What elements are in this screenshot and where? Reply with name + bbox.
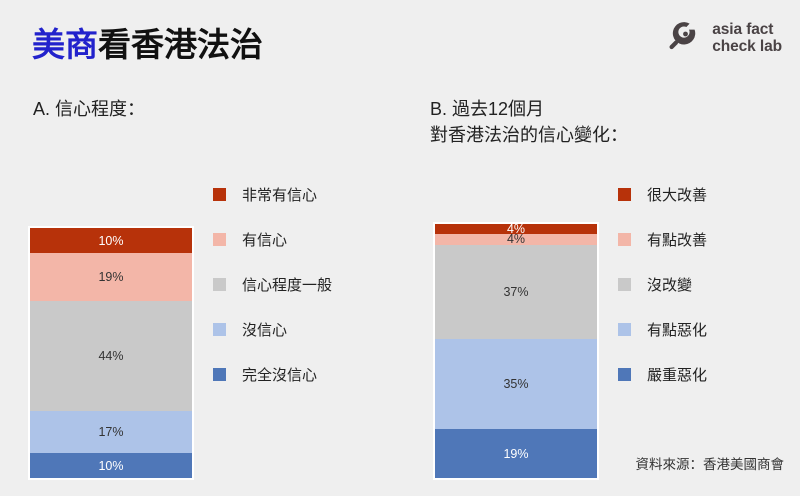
brand-logo-line1: asia fact: [712, 21, 773, 38]
bar-segment-信心程度一般: 44%: [30, 301, 192, 411]
bar-segment-完全沒信心: 10%: [30, 453, 192, 478]
legend-item-有信心[interactable]: 有信心: [213, 217, 332, 262]
bar-segment-value: 37%: [503, 285, 528, 299]
bar-segment-有點惡化: 35%: [435, 339, 597, 429]
legend-swatch-icon: [618, 323, 631, 336]
legend-item-label: 信心程度一般: [242, 274, 332, 295]
legend-swatch-icon: [213, 278, 226, 291]
page-title: 美商看香港法治: [32, 24, 263, 66]
bar-segment-有點改善: 4%: [435, 234, 597, 244]
bar-segment-value: 4%: [507, 234, 525, 244]
legend-item-label: 有點惡化: [647, 319, 707, 340]
legend-swatch-icon: [618, 278, 631, 291]
chart-a-stacked-bar: 10%19%44%17%10%: [28, 226, 194, 480]
legend-item-有點惡化[interactable]: 有點惡化: [618, 307, 707, 352]
legend-item-沒信心[interactable]: 沒信心: [213, 307, 332, 352]
bar-segment-value: 10%: [98, 234, 123, 248]
source-note: 資料來源：香港美國商會: [636, 453, 785, 473]
bar-segment-沒改變: 37%: [435, 245, 597, 340]
chart-b-legend: 很大改善有點改善沒改變有點惡化嚴重惡化: [618, 172, 707, 397]
legend-item-有點改善[interactable]: 有點改善: [618, 217, 707, 262]
legend-item-嚴重惡化[interactable]: 嚴重惡化: [618, 352, 707, 397]
legend-item-完全沒信心[interactable]: 完全沒信心: [213, 352, 332, 397]
page-title-rest: 看香港法治: [98, 26, 263, 63]
section-b-heading: B. 過去12個月 對香港法治的信心變化：: [430, 96, 628, 148]
chart-a-legend: 非常有信心有信心信心程度一般沒信心完全沒信心: [213, 172, 332, 397]
legend-item-label: 沒改變: [647, 274, 692, 295]
legend-swatch-icon: [213, 188, 226, 201]
legend-item-label: 嚴重惡化: [647, 364, 707, 385]
legend-swatch-icon: [618, 368, 631, 381]
bar-segment-沒信心: 17%: [30, 411, 192, 454]
bar-segment-value: 19%: [503, 447, 528, 461]
legend-item-label: 沒信心: [242, 319, 287, 340]
legend-swatch-icon: [213, 368, 226, 381]
brand-logo[interactable]: asia fact check lab: [669, 18, 782, 57]
legend-item-很大改善[interactable]: 很大改善: [618, 172, 707, 217]
bar-segment-value: 35%: [503, 377, 528, 391]
chart-b-stacked-bar: 4%4%37%35%19%: [433, 222, 599, 480]
page-title-accent: 美商: [32, 26, 98, 63]
legend-swatch-icon: [618, 233, 631, 246]
legend-item-非常有信心[interactable]: 非常有信心: [213, 172, 332, 217]
legend-item-label: 有信心: [242, 229, 287, 250]
legend-item-label: 完全沒信心: [242, 364, 317, 385]
legend-item-label: 非常有信心: [242, 184, 317, 205]
magnifier-logo-icon: [669, 18, 703, 57]
section-a-heading: A. 信心程度：: [33, 96, 145, 122]
bar-segment-非常有信心: 10%: [30, 228, 192, 253]
legend-item-label: 很大改善: [647, 184, 707, 205]
brand-logo-line2: check lab: [712, 38, 782, 55]
bar-segment-嚴重惡化: 19%: [435, 429, 597, 478]
bar-segment-value: 4%: [507, 224, 525, 234]
bar-segment-有信心: 19%: [30, 253, 192, 301]
legend-item-label: 有點改善: [647, 229, 707, 250]
bar-segment-value: 17%: [98, 425, 123, 439]
legend-swatch-icon: [618, 188, 631, 201]
legend-swatch-icon: [213, 233, 226, 246]
page-header: 美商看香港法治 asia fact check lab: [0, 0, 800, 80]
legend-swatch-icon: [213, 323, 226, 336]
bar-segment-value: 19%: [98, 270, 123, 284]
bar-segment-value: 44%: [98, 349, 123, 363]
legend-item-信心程度一般[interactable]: 信心程度一般: [213, 262, 332, 307]
brand-logo-text: asia fact check lab: [712, 21, 782, 55]
bar-segment-很大改善: 4%: [435, 224, 597, 234]
bar-segment-value: 10%: [98, 459, 123, 473]
legend-item-沒改變[interactable]: 沒改變: [618, 262, 707, 307]
